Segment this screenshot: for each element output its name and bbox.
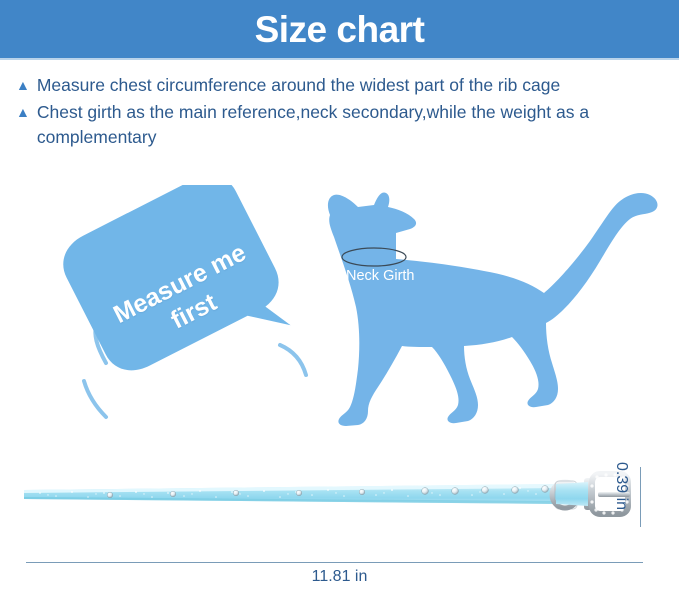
- cat-silhouette: Neck Girth: [312, 175, 672, 430]
- header-band: Size chart: [0, 0, 679, 58]
- instruction-item: ▲ Chest girth as the main reference,neck…: [16, 100, 666, 150]
- speech-bubble-icon: [44, 185, 324, 425]
- instruction-text: Measure chest circumference around the w…: [37, 73, 666, 98]
- triangle-bullet-icon: ▲: [16, 100, 30, 125]
- measure-me-first-callout: Measure me first: [44, 185, 324, 425]
- instruction-item: ▲ Measure chest circumference around the…: [16, 73, 666, 98]
- illustration-area: Measure me first Neck Girth: [0, 175, 679, 440]
- collar-product-image: [0, 450, 679, 545]
- length-measure-label: 11.81 in: [0, 568, 679, 586]
- instruction-text: Chest girth as the main reference,neck s…: [37, 100, 666, 150]
- triangle-bullet-icon: ▲: [16, 73, 30, 98]
- neck-girth-label: Neck Girth: [346, 268, 415, 284]
- header-divider: [0, 58, 679, 60]
- width-measure-line: [640, 467, 641, 527]
- length-measure-line: [26, 562, 643, 563]
- instruction-list: ▲ Measure chest circumference around the…: [16, 73, 666, 152]
- collar-illustration: [0, 450, 679, 545]
- cat-icon: [312, 175, 672, 430]
- width-measure-label: 0.39 in: [612, 462, 630, 532]
- page-title: Size chart: [255, 11, 425, 48]
- size-chart-page: Size chart ▲ Measure chest circumference…: [0, 0, 679, 591]
